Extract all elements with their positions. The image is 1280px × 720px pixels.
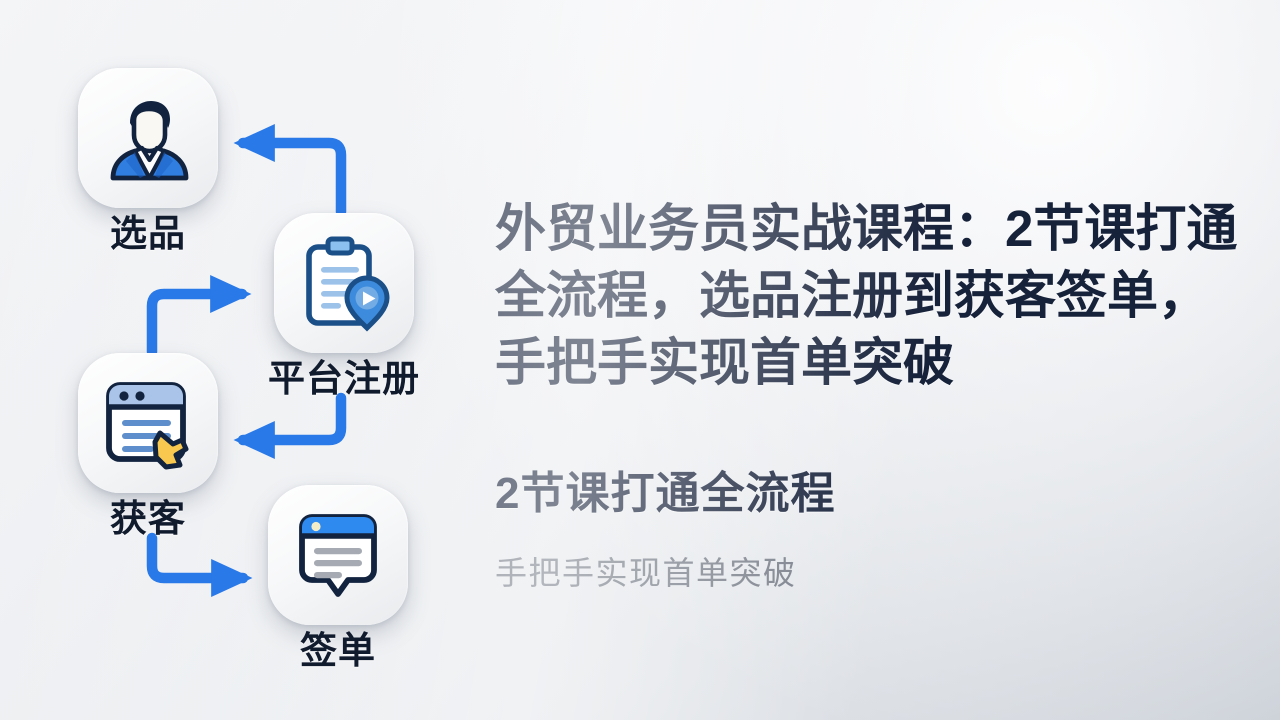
- flow-node-huoke[interactable]: 获客: [78, 353, 218, 539]
- headline: 外贸业务员实战课程：2节课打通全流程，选品注册到获客签单，手把手实现首单突破: [495, 196, 1240, 396]
- subheadline: 2节课打通全流程: [495, 457, 835, 521]
- flow-node-tile: [274, 213, 414, 353]
- arrow-pingtai-to-xuanpin: [243, 143, 341, 212]
- workflow-diagram: 选品: [0, 0, 470, 720]
- flow-node-qiandan[interactable]: 签单: [268, 485, 408, 671]
- arrow-huoke-to-qiandan: [152, 538, 243, 578]
- speech-bubble-document-icon: [290, 507, 386, 603]
- flow-node-tile: [268, 485, 408, 625]
- flow-node-label: 获客: [110, 500, 186, 539]
- flow-node-tile: [78, 353, 218, 493]
- arrow-pingtai-to-huoke: [243, 398, 341, 440]
- flow-node-pingtai[interactable]: 平台注册: [268, 213, 420, 399]
- promo-graphic-canvas: 选品: [0, 0, 1280, 720]
- flow-node-label: 签单: [300, 632, 376, 671]
- flow-node-label: 平台注册: [268, 360, 420, 399]
- tagline: 手把手实现首单突破: [495, 548, 797, 594]
- flow-node-xuanpin[interactable]: 选品: [78, 68, 218, 254]
- clipboard-location-pin-icon: [295, 234, 393, 332]
- businessperson-icon: [100, 90, 196, 186]
- arrow-huoke-to-pingtai: [152, 294, 242, 352]
- flow-node-label: 选品: [110, 215, 186, 254]
- flow-node-tile: [78, 68, 218, 208]
- copy-block: 外贸业务员实战课程：2节课打通全流程，选品注册到获客签单，手把手实现首单突破 2…: [495, 0, 1255, 720]
- browser-window-cursor-icon: [100, 375, 196, 471]
